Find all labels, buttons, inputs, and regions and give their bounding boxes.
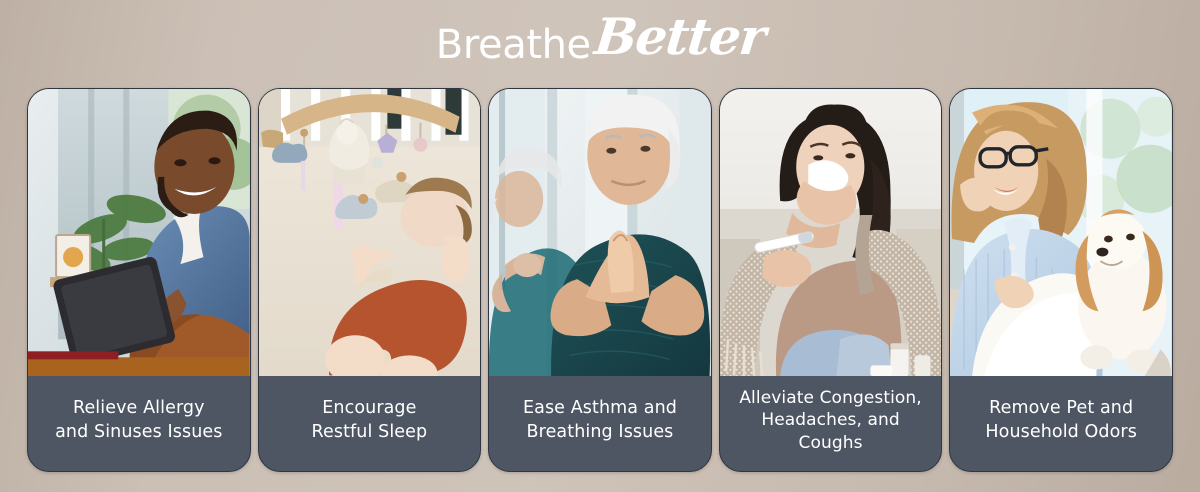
banner-title: BreatheBetter: [0, 12, 1200, 65]
sleeping-baby-photo: [259, 89, 481, 376]
card-caption: Ease Asthma and Breathing Issues: [489, 376, 711, 471]
seniors-yoga-photo: [489, 89, 711, 376]
man-with-tablet-photo: [28, 89, 250, 376]
card-caption: Alleviate Congestion, Headaches, and Cou…: [720, 376, 942, 471]
card-caption: Relieve Allergy and Sinuses Issues: [28, 376, 250, 471]
benefit-card-allergy[interactable]: Relieve Allergy and Sinuses Issues: [27, 88, 251, 472]
card-caption: Encourage Restful Sleep: [259, 376, 481, 471]
benefit-card-row: Relieve Allergy and Sinuses Issues: [27, 88, 1173, 472]
benefit-card-congestion[interactable]: Alleviate Congestion, Headaches, and Cou…: [719, 88, 943, 472]
benefit-card-pet-odors[interactable]: Remove Pet and Household Odors: [949, 88, 1173, 472]
woman-blowing-nose-photo: [720, 89, 942, 376]
title-word-better: Better: [592, 12, 767, 62]
woman-with-dog-photo: [950, 89, 1172, 376]
benefit-card-asthma[interactable]: Ease Asthma and Breathing Issues: [488, 88, 712, 472]
breathe-better-banner: BreatheBetter: [0, 0, 1200, 492]
benefit-card-sleep[interactable]: Encourage Restful Sleep: [258, 88, 482, 472]
card-caption: Remove Pet and Household Odors: [950, 376, 1172, 471]
title-word-breathe: Breathe: [436, 25, 591, 65]
